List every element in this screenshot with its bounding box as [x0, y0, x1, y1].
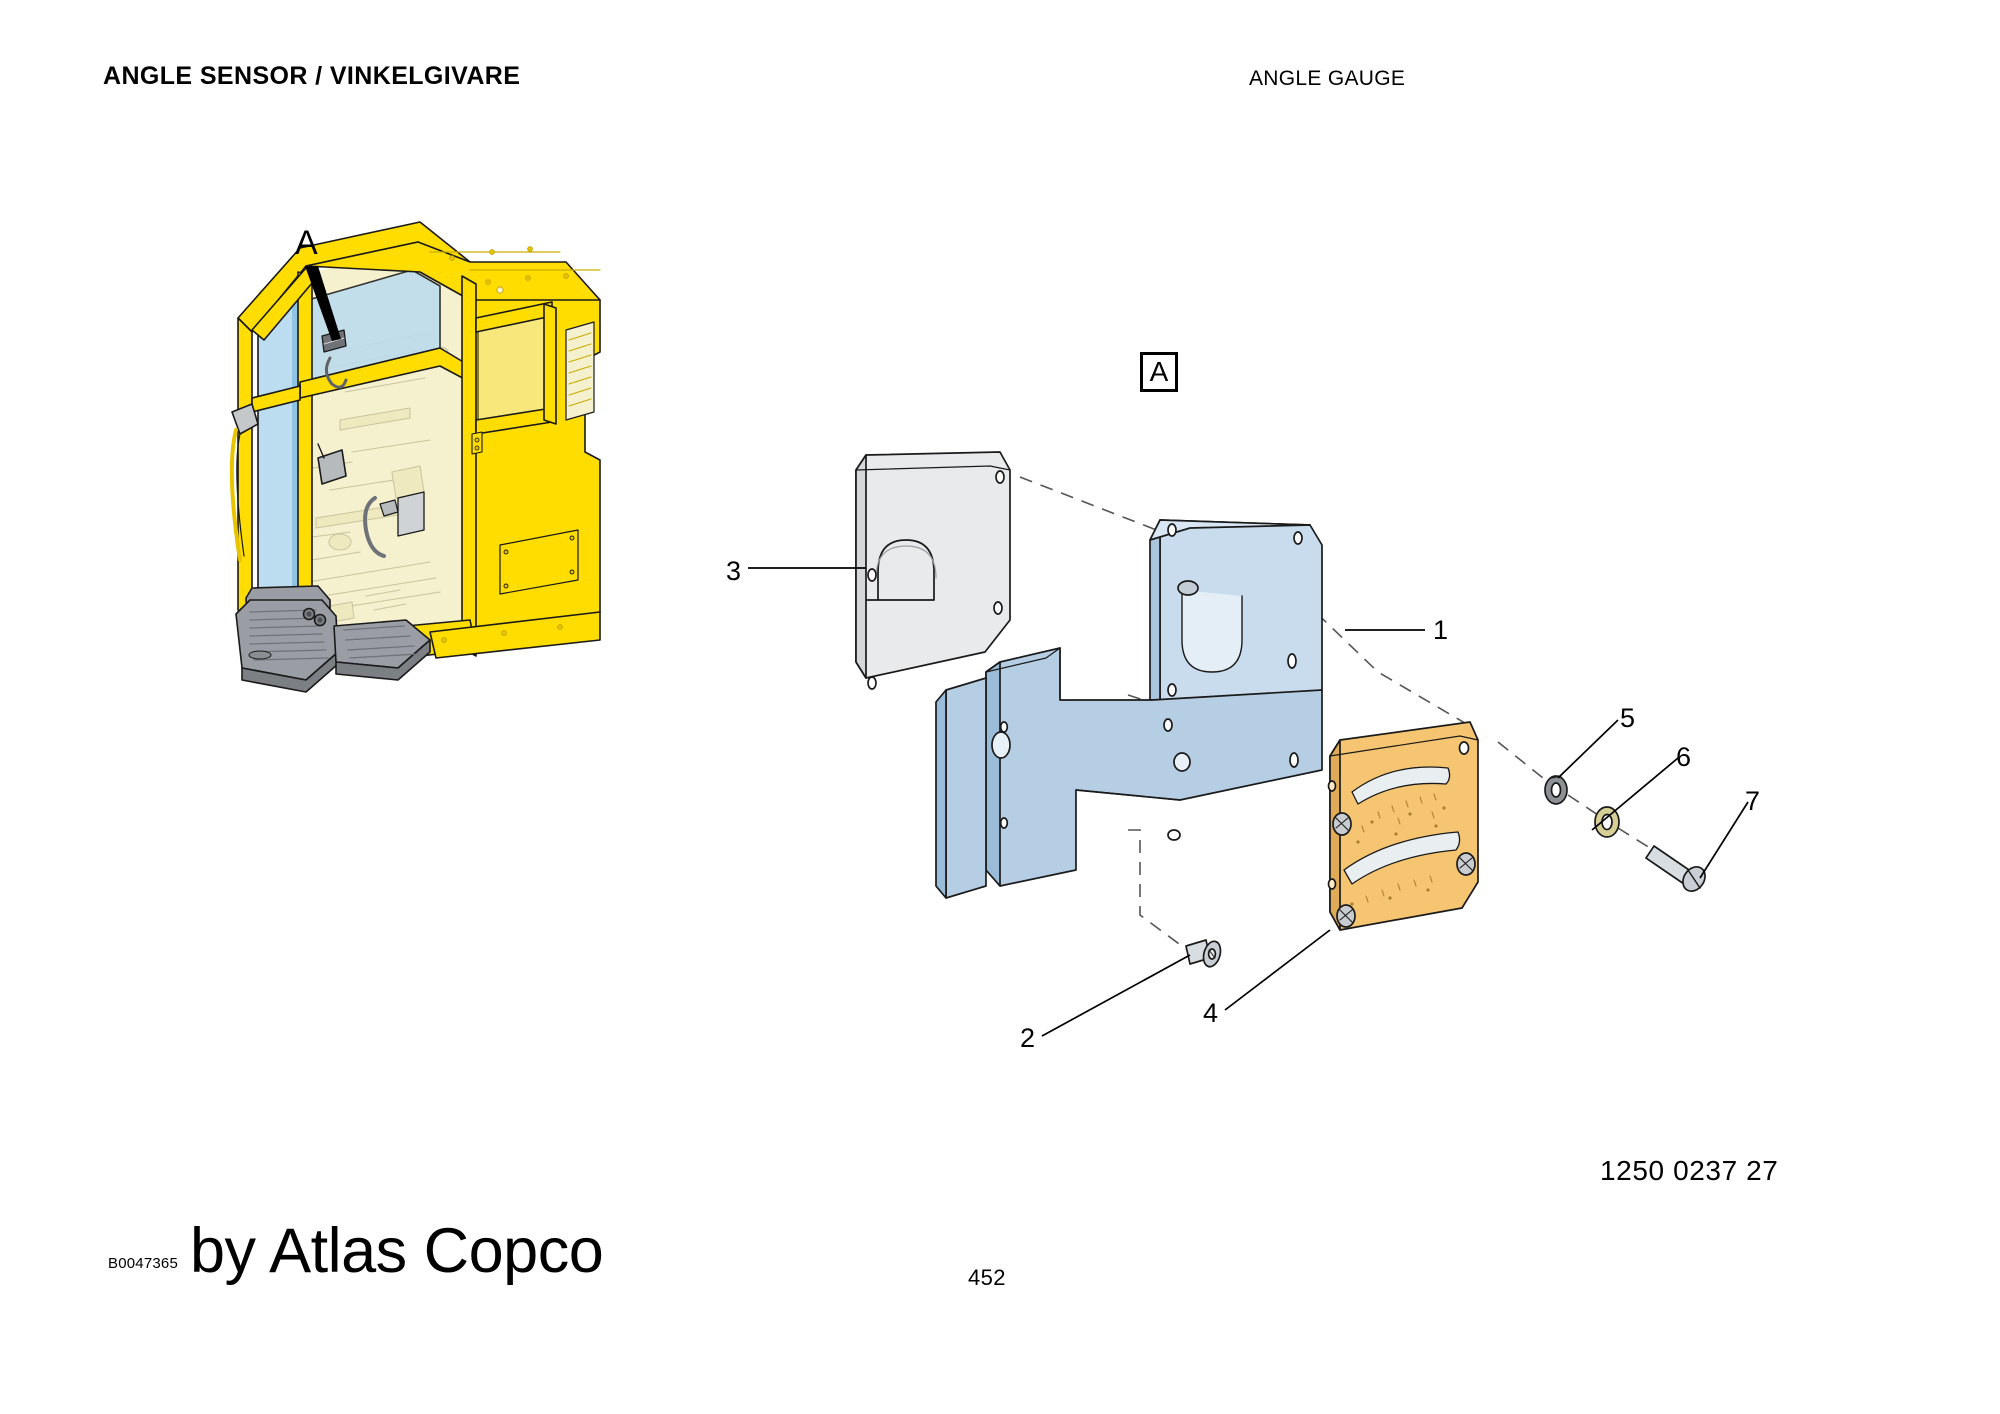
page-title-right: ANGLE GAUGE	[1249, 67, 1405, 91]
part-4-angle-gauge-plate	[1329, 722, 1479, 930]
callout-6: 6	[1676, 744, 1691, 771]
part-1-mounting-bracket	[936, 520, 1322, 898]
brand-logo-text: by Atlas Copco	[190, 1215, 603, 1287]
callout-7: 7	[1745, 788, 1760, 815]
callout-3: 3	[726, 558, 741, 585]
parts-catalog-page: ANGLE SENSOR / VINKELGIVARE ANGLE GAUGE	[0, 0, 2000, 1414]
part-5-lock-washer	[1545, 776, 1567, 804]
document-code: B0047365	[108, 1255, 178, 1272]
assembly-axis-lines	[950, 455, 1650, 952]
callout-4: 4	[1203, 1000, 1218, 1027]
callout-5: 5	[1620, 705, 1635, 732]
part-6-flat-washer	[1595, 807, 1619, 837]
part-2-flat-head-screw	[1186, 939, 1223, 968]
callout-1: 1	[1433, 617, 1448, 644]
page-number: 452	[968, 1265, 1006, 1291]
callout-leader-lines	[748, 568, 1748, 1036]
machine-cab-illustration	[0, 0, 2000, 1414]
detail-pointer-arrow	[305, 266, 341, 341]
exploded-assembly-diagram	[0, 0, 2000, 1414]
callout-2: 2	[1020, 1025, 1035, 1052]
detail-pointer-label: A	[295, 226, 318, 260]
detail-view-label-box: A	[1140, 352, 1178, 392]
part-7-slotted-screw	[1646, 846, 1710, 895]
page-title-left: ANGLE SENSOR / VINKELGIVARE	[103, 62, 520, 91]
part-number: 1250 0237 27	[1600, 1155, 1778, 1187]
part-3-cover-plate	[856, 452, 1010, 689]
